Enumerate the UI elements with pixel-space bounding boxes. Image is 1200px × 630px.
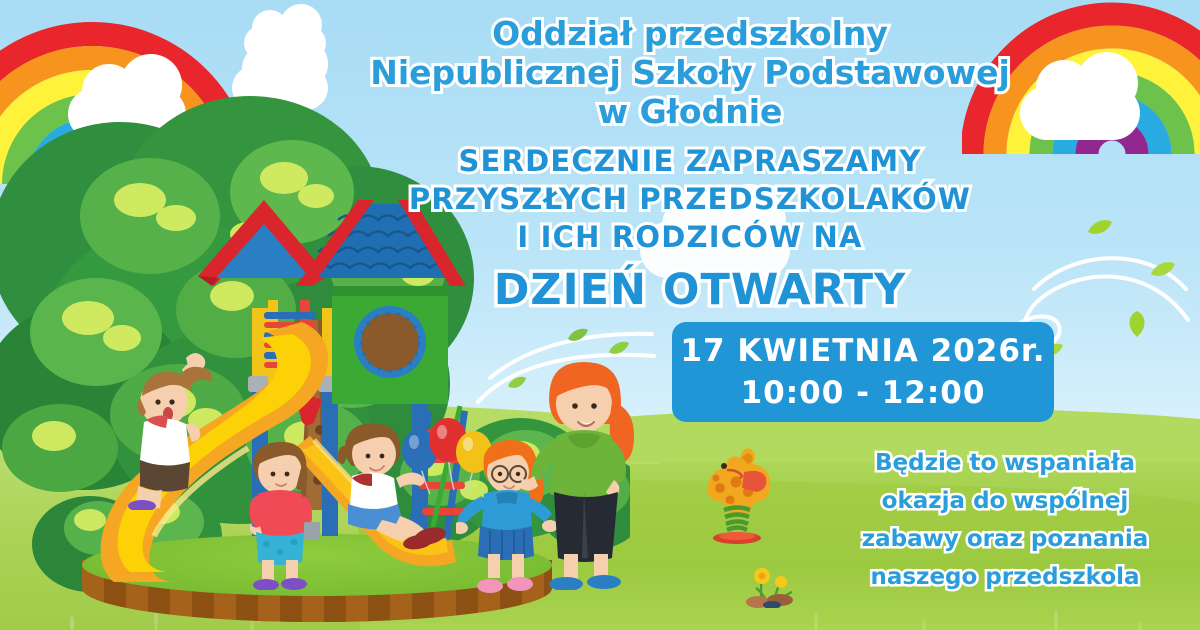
- event-time: 10:00 - 12:00: [741, 373, 986, 413]
- note-line-2: okazja do wspólnej: [830, 482, 1180, 520]
- header-line-1: Oddział przedszkolny: [330, 14, 1050, 53]
- invitation-text-block: SERDECZNIE ZAPRASZAMY PRZYSZŁYCH PRZEDSZ…: [360, 142, 1020, 256]
- child-standing-red-shirt: [236, 440, 326, 590]
- child-on-slide-top: [120, 350, 230, 510]
- leaf-icon: [1150, 260, 1176, 282]
- header-title-block: Oddział przedszkolny Niepublicznej Szkoł…: [330, 14, 1050, 131]
- child-sliding: [322, 420, 462, 550]
- header-line-2: Niepublicznej Szkoły Podstawowej: [330, 53, 1050, 92]
- leaf-icon: [567, 327, 589, 347]
- note-line-1: Będzie to wspaniała: [830, 444, 1180, 482]
- flower-icon: [744, 562, 806, 608]
- header-line-3: w Głodnie: [330, 92, 1050, 131]
- invitation-line-3: I ICH RODZICÓW NA: [360, 218, 1020, 256]
- teacher-figure: [520, 358, 650, 590]
- poster-canvas: Oddział przedszkolny Niepublicznej Szkoł…: [0, 0, 1200, 630]
- leaf-icon: [1087, 218, 1113, 240]
- date-time-banner: 17 KWIETNIA 2026r. 10:00 - 12:00: [672, 322, 1054, 422]
- event-title: DZIEŃ OTWARTY: [400, 265, 1000, 315]
- note-line-3: zabawy oraz poznania: [830, 520, 1180, 558]
- leaf-icon: [608, 340, 630, 360]
- event-date: 17 KWIETNIA 2026r.: [680, 331, 1045, 371]
- giraffe-spring-rider-icon: [690, 448, 794, 546]
- event-title-block: DZIEŃ OTWARTY: [400, 265, 1000, 315]
- note-line-4: naszego przedszkola: [830, 558, 1180, 596]
- leaf-icon: [1125, 310, 1149, 342]
- note-text-block: Będzie to wspaniała okazja do wspólnej z…: [830, 444, 1180, 596]
- invitation-line-2: PRZYSZŁYCH PRZEDSZKOLAKÓW: [360, 180, 1020, 218]
- invitation-line-1: SERDECZNIE ZAPRASZAMY: [360, 142, 1020, 180]
